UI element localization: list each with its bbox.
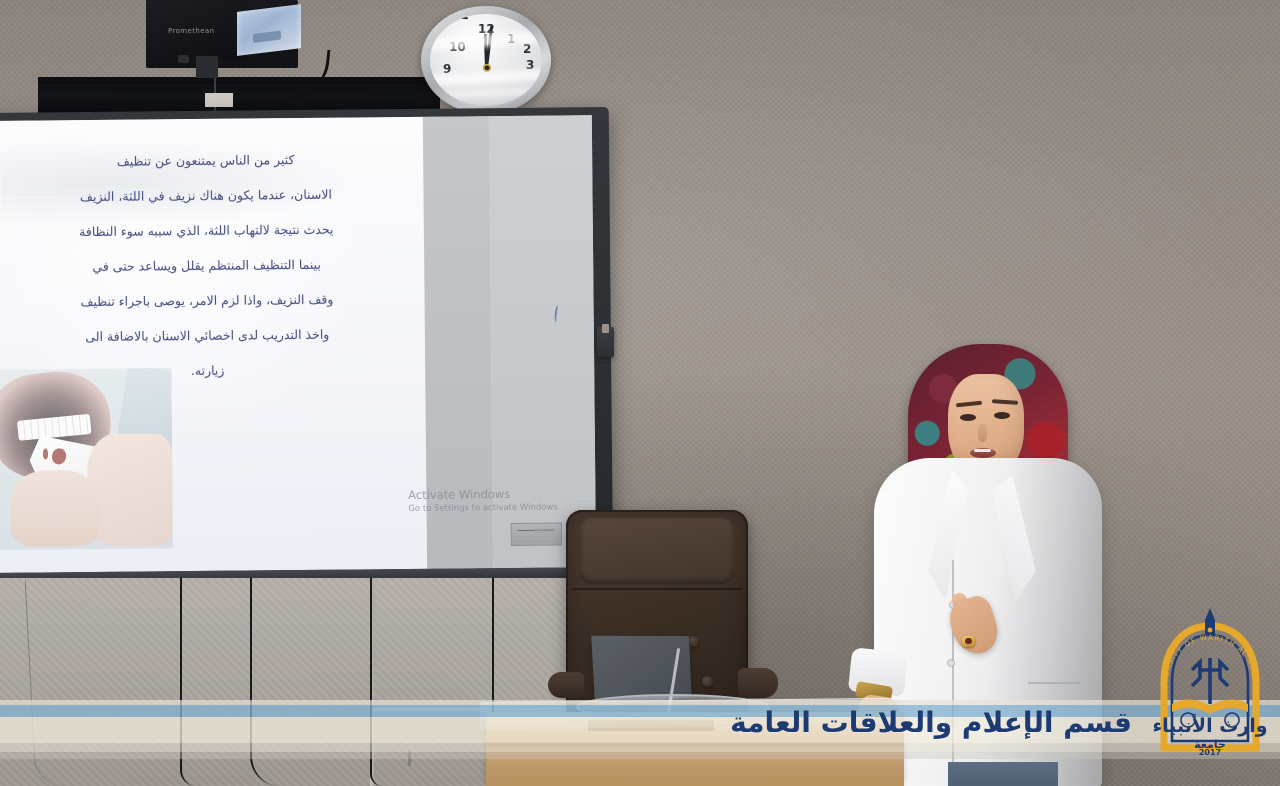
mouth [970, 448, 996, 458]
desk-edge-lip [486, 742, 904, 748]
slide-text-block: كثير من الناس يمتنعون عن تنظيف الاسنان، … [12, 153, 401, 402]
eye-left [960, 414, 976, 421]
slide-line: كثير من الناس يمتنعون عن تنظيف [12, 153, 399, 169]
lab-coat-button [946, 720, 952, 726]
hanging-cable [25, 577, 97, 786]
lab-coat-pocket [1028, 682, 1080, 684]
logo-year-visible: 2017 [1199, 748, 1221, 757]
chair-armrest-right [738, 668, 778, 698]
projector-arm [196, 56, 218, 78]
slide-line: واخذ التدريب لدى اخصائي الاسنان بالاضافة… [14, 328, 401, 344]
ring [962, 636, 975, 647]
eye-right [994, 412, 1010, 419]
logo-knot-ornament [1192, 658, 1228, 704]
slide-line: بينما التنظيف المنتظم يقلل ويساعد حتى في [13, 258, 400, 274]
projection-washout [0, 368, 173, 551]
slide-line: يحدث نتيجة لالتهاب اللثة، الذي سببه سوء … [13, 223, 400, 239]
desk-glass-top [480, 698, 900, 729]
slide-line: الاسنان، عندما يكون هناك نزيف في اللثة، … [13, 188, 400, 204]
hanging-cable [250, 578, 312, 786]
hanging-cable [370, 578, 382, 786]
clock-numeral-2: 2 [523, 42, 531, 56]
slide-line: وقف النزيف، واذا لزم الامر، يوصى باجراء … [14, 293, 401, 309]
whiteboard-surface[interactable]: كثير من الناس يمتنعون عن تنظيف الاسنان، … [0, 115, 596, 573]
university-logo: UNIVERSITY OF WARITH AL-ANBIYAA وارث الأ… [1152, 608, 1268, 760]
photo-scene: Promethean 12 1 2 3 9 10 [0, 0, 1280, 786]
scrub-trousers [948, 762, 1058, 786]
projector-plug [178, 55, 189, 63]
hanging-cable [180, 578, 196, 786]
whiteboard-pen-holder[interactable] [597, 327, 614, 357]
lab-coat-button [948, 660, 954, 666]
whiteboard-label-sticker [511, 522, 562, 545]
wall-clock: 12 1 2 3 9 10 [421, 6, 551, 114]
logo-arabic-name: وارث الأنبياء [1152, 714, 1267, 737]
nose [978, 424, 987, 442]
interactive-whiteboard[interactable]: كثير من الناس يمتنعون عن تنظيف الاسنان، … [0, 107, 613, 587]
whiteboard-dry-area-left [423, 116, 494, 569]
clock-face: 12 1 2 3 9 10 [430, 14, 542, 106]
panel-seam [408, 750, 411, 766]
projector-brand-label: Promethean [168, 27, 214, 35]
whiteboard-dry-area-right [489, 115, 596, 568]
speaker-bar-tab [205, 93, 233, 107]
lab-coat-placket [952, 560, 954, 780]
chair-armrest-left [548, 672, 584, 698]
slide-dental-photo [0, 368, 173, 551]
